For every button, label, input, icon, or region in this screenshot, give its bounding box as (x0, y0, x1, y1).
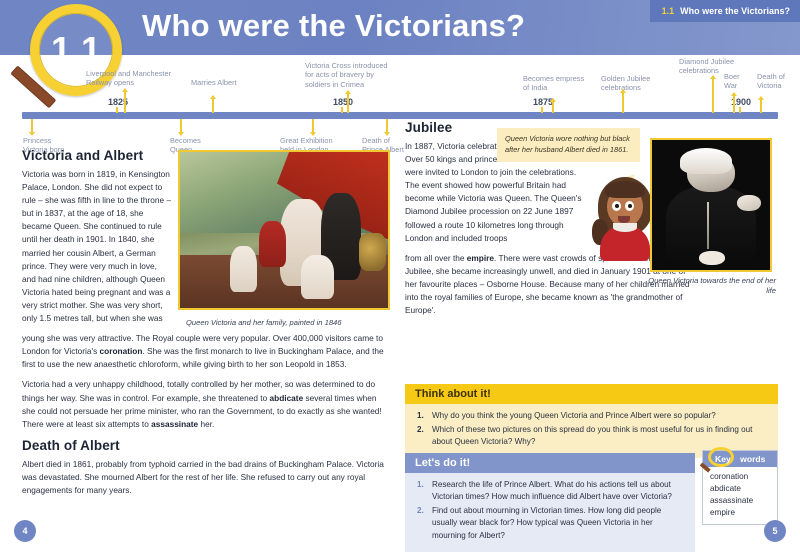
cartoon-fringe (605, 181, 645, 198)
timeline-tick (386, 119, 388, 133)
speech-bubble: Queen Victoria wore nothing but black af… (497, 128, 640, 162)
paragraph-victoria-1b: young she was very attractive. The Royal… (22, 332, 390, 371)
image-queen-victoria-family (178, 150, 390, 310)
photo-hand (737, 195, 761, 212)
lets-box-task: Find out about mourning in Victorian tim… (415, 505, 685, 541)
painting-figure-child-white-1 (230, 246, 257, 293)
photo-veil (680, 148, 732, 174)
lets-box-task-list: Research the life of Prince Albert. What… (415, 479, 685, 542)
keyword-coronation: coronation (100, 346, 143, 356)
timeline-tick (347, 91, 349, 113)
keyword-empire: empire (467, 253, 494, 263)
key-words-box: Key words coronation abdicate assassinat… (702, 450, 778, 525)
timeline-tick (712, 76, 714, 113)
key-word-item: empire (710, 507, 770, 519)
timeline-event-label: Marries Albert (191, 78, 291, 87)
keyword-abdicate: abdicate (270, 393, 304, 403)
page-title: Who were the Victorians? (142, 8, 525, 44)
painting-figure-child-white-2 (301, 255, 334, 299)
photo-cuff (699, 251, 725, 265)
timeline-tick (622, 90, 624, 113)
key-word-item: abdicate (710, 483, 770, 495)
running-head-title: Who were the Victorians? (680, 6, 790, 16)
cartoon-mouth (618, 216, 630, 223)
page-number-right: 5 (764, 520, 786, 542)
timeline-year: 1850 (333, 97, 353, 107)
cartoon-pupil-left (615, 204, 619, 208)
keyword-assassinate: assassinate (151, 419, 198, 429)
cartoon-pupil-right (628, 204, 632, 208)
timeline-year-tick (116, 107, 118, 113)
timeline-year-tick (341, 107, 343, 113)
timeline-tick (31, 119, 33, 133)
text-pre: from all over the (405, 253, 467, 263)
cartoon-collar (613, 223, 637, 232)
paragraph-victoria-2: Victoria had a very unhappy childhood, t… (22, 378, 390, 430)
painting-flowers (359, 233, 386, 270)
lets-box-title: Let's do it! (405, 453, 695, 473)
timeline-tick (312, 119, 314, 133)
timeline-arrow-icon (122, 88, 128, 92)
timeline-arrow-icon (550, 98, 556, 102)
timeline-arrow-icon (710, 75, 716, 79)
key-words-list: coronation abdicate assassinate empire (703, 467, 777, 524)
key-words-title-words: words (740, 454, 765, 464)
timeline-axis (22, 112, 778, 119)
timeline-event-label: Victoria Cross introduced for acts of br… (305, 61, 423, 89)
caption-victoria-photo: Queen Victoria towards the end of her li… (648, 276, 776, 296)
timeline-event-label: Liverpool and Manchester Railway opens (86, 69, 206, 88)
text-post: her. (198, 419, 214, 429)
timeline-arrow-icon (620, 89, 626, 93)
paragraph-victoria-1a: Victoria was born in 1819, in Kensington… (22, 168, 172, 325)
timeline-event-label: Boer War (724, 72, 754, 91)
lets-box-body: Research the life of Prince Albert. What… (405, 473, 695, 552)
think-box-question-list: Why do you think the young Queen Victori… (415, 410, 768, 448)
key-word-item: assassinate (710, 495, 770, 507)
timeline-event-label: Golden Jubilee celebrations (601, 74, 691, 93)
caption-family-painting: Queen Victoria and her family, painted i… (186, 318, 391, 328)
timeline-year-tick (541, 107, 543, 113)
page-number-left: 4 (14, 520, 36, 542)
painting-figure-child-red (259, 221, 286, 268)
key-words-title-key: Key (715, 454, 731, 464)
key-word-item: coronation (710, 471, 770, 483)
key-words-header: Key words (703, 451, 777, 467)
photo-chain (707, 202, 709, 249)
think-box-question: Which of these two pictures on this spre… (415, 424, 768, 448)
section-heading-death-of-albert: Death of Albert (22, 438, 390, 453)
timeline-arrow-icon (758, 96, 764, 100)
timeline-event-label: Death of Victoria (757, 72, 800, 91)
think-box-title: Think about it! (405, 384, 778, 404)
timeline-tick (733, 93, 735, 113)
lets-do-it-box: Let's do it! Research the life of Prince… (405, 453, 695, 552)
timeline-year-tick (739, 107, 741, 113)
cartoon-character (592, 175, 658, 261)
timeline-arrow-icon (210, 95, 216, 99)
paragraph-death-albert: Albert died in 1861, probably from typho… (22, 458, 390, 497)
timeline-arrow-icon (731, 92, 737, 96)
timeline-arrow-icon (345, 90, 351, 94)
timeline-tick (180, 119, 182, 133)
running-head: 1.1 Who were the Victorians? (650, 0, 800, 22)
think-box-question: Why do you think the young Queen Victori… (415, 410, 768, 422)
lets-box-task: Research the life of Prince Albert. What… (415, 479, 685, 503)
timeline-tick (124, 89, 126, 113)
running-head-number: 1.1 (662, 6, 675, 16)
image-queen-victoria-photo (650, 138, 772, 272)
textbook-spread: 1.1 Who were the Victorians? 1.1 Who wer… (0, 0, 800, 552)
